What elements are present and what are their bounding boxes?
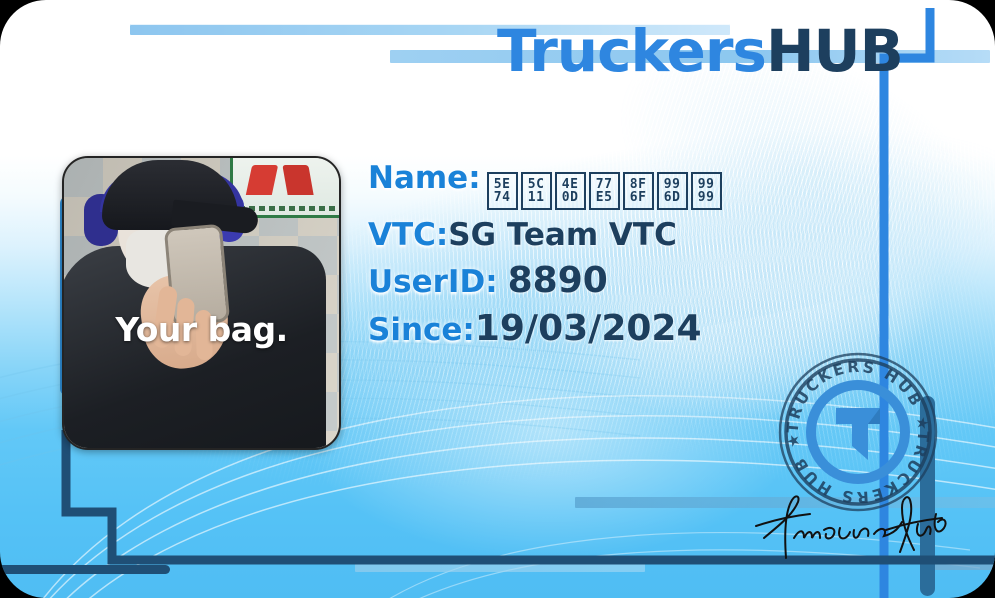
field-label-vtc: VTC: bbox=[368, 217, 448, 253]
missing-glyph-box: 77E5 bbox=[589, 172, 620, 210]
field-label-since: Since: bbox=[368, 312, 475, 348]
decorative-bar-bottom-2 bbox=[355, 562, 645, 572]
field-value-vtc: SG Team VTC bbox=[448, 217, 677, 253]
holder-photo: Your bag. bbox=[62, 156, 341, 450]
field-row-vtc: VTC: SG Team VTC bbox=[368, 217, 788, 253]
holder-details: Name: 5E745C114E0D77E58F6F996D9999 VTC: … bbox=[368, 160, 788, 356]
missing-glyph-box: 5C11 bbox=[521, 172, 552, 210]
field-row-name: Name: 5E745C114E0D77E58F6F996D9999 bbox=[368, 160, 788, 210]
brand-logo-part1: Truckers bbox=[497, 17, 766, 85]
field-label-name: Name: bbox=[368, 160, 481, 196]
field-value-name-tofu: 5E745C114E0D77E58F6F996D9999 bbox=[487, 172, 722, 210]
missing-glyph-box: 996D bbox=[657, 172, 688, 210]
holder-signature bbox=[752, 486, 962, 566]
missing-glyph-box: 8F6F bbox=[623, 172, 654, 210]
missing-glyph-box: 4E0D bbox=[555, 172, 586, 210]
brand-logo: TruckersHUB bbox=[497, 22, 903, 80]
brand-logo-part2: HUB bbox=[766, 17, 903, 85]
field-value-userid: 8890 bbox=[508, 260, 608, 301]
field-label-userid: UserID: bbox=[368, 264, 498, 300]
id-card: TruckersHUB Your bag. bbox=[0, 0, 995, 598]
field-row-since: Since: 19/03/2024 bbox=[368, 308, 788, 349]
stamp-logo-t-mark bbox=[836, 408, 880, 460]
field-value-since: 19/03/2024 bbox=[475, 308, 702, 349]
photo-caption-text: Your bag. bbox=[64, 310, 339, 349]
field-row-userid: UserID: 8890 bbox=[368, 260, 788, 301]
decorative-bar-bottom-3 bbox=[0, 565, 170, 574]
missing-glyph-box: 9999 bbox=[691, 172, 722, 210]
photo-content: Your bag. bbox=[64, 158, 339, 448]
missing-glyph-box: 5E74 bbox=[487, 172, 518, 210]
